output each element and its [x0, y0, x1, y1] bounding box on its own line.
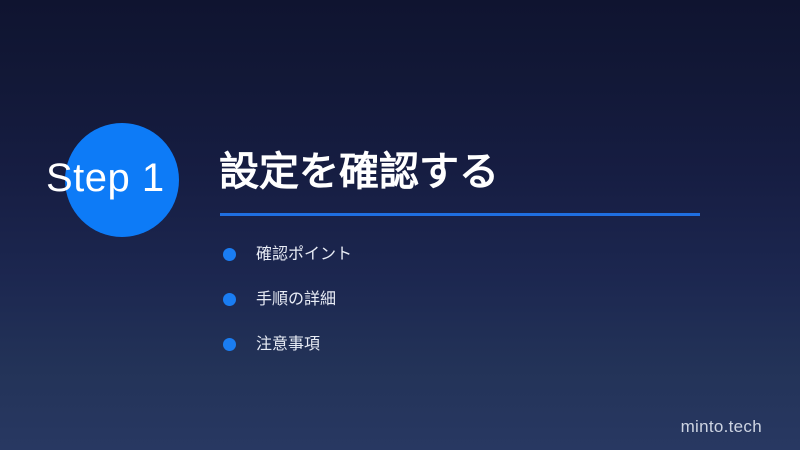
step-number-label: Step 1: [46, 152, 246, 204]
bullet-list: 確認ポイント 手順の詳細 注意事項: [220, 232, 690, 367]
bullet-dot-icon: [223, 338, 236, 351]
slide-canvas: Step 1 設定を確認する 確認ポイント 手順の詳細 注意事項 minto.t…: [0, 0, 800, 450]
page-title: 設定を確認する: [219, 147, 499, 197]
list-item: 手順の詳細: [220, 277, 690, 322]
list-item-label: 確認ポイント: [256, 245, 352, 265]
list-item: 注意事項: [220, 322, 690, 367]
list-item-label: 注意事項: [256, 335, 320, 355]
watermark: minto.tech: [681, 417, 762, 437]
bullet-dot-icon: [223, 248, 236, 261]
list-item: 確認ポイント: [220, 232, 690, 277]
list-item-label: 手順の詳細: [256, 290, 336, 310]
bullet-dot-icon: [223, 293, 236, 306]
title-divider: [220, 213, 700, 216]
